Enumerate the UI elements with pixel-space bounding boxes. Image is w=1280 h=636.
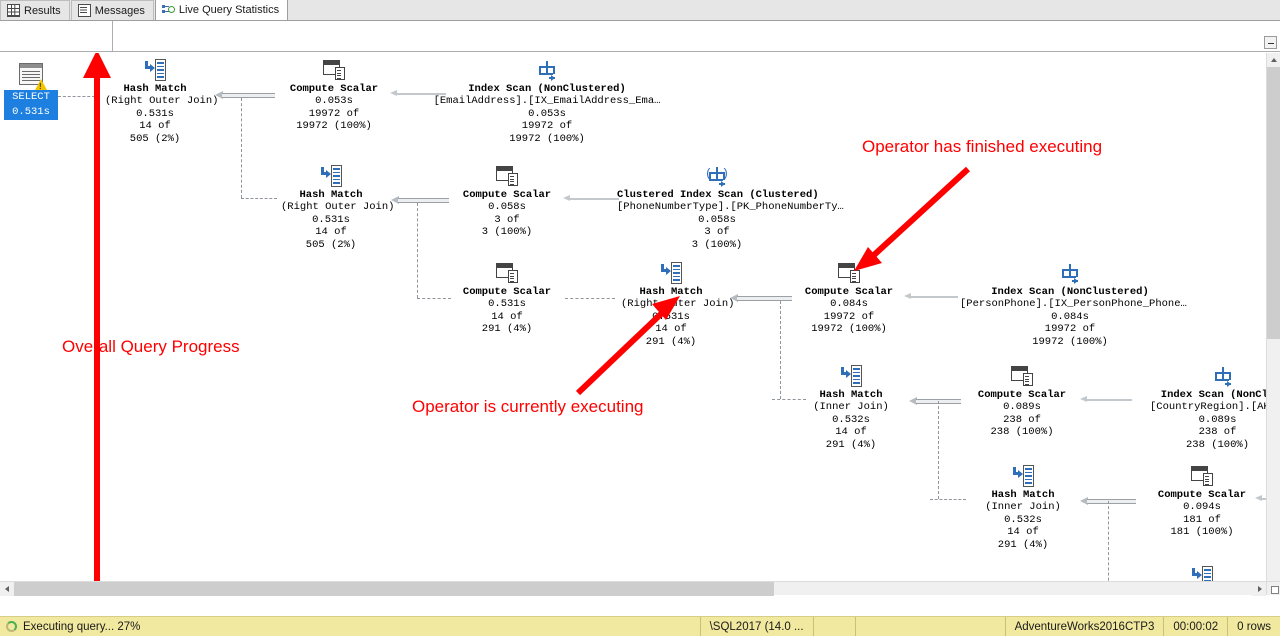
connector-dashed-cs3-hash2	[417, 298, 451, 299]
operator-select-root[interactable]: SELECT 0.531s	[4, 63, 58, 120]
canvas-vertical-scrollbar[interactable]	[1266, 53, 1280, 595]
operator-compute-scalar-3[interactable]: Compute Scalar 0.531s 14 of 291 (4%)	[457, 261, 557, 336]
operator-rows: 238 of	[1150, 426, 1266, 438]
operator-rows: 3 of	[617, 226, 817, 238]
connector-arrow-cidx1-cs2	[563, 197, 619, 200]
operator-time: 0.532s	[983, 514, 1063, 526]
operator-name: Compute Scalar	[972, 389, 1072, 401]
index-scan-icon	[960, 261, 1180, 285]
operator-name: Hash Match	[621, 286, 721, 298]
horizontal-scroll-thumb[interactable]	[14, 582, 774, 596]
operator-rows: 19972 of	[412, 120, 682, 132]
operator-total: 3 (100%)	[617, 239, 817, 251]
operator-time: 0.084s	[960, 311, 1180, 323]
operator-hash-match-2[interactable]: Hash Match (Right Outer Join) 0.531s 14 …	[281, 164, 381, 251]
operator-name: Compute Scalar	[1152, 489, 1252, 501]
operator-total: 291 (4%)	[457, 323, 557, 335]
operator-rows: 19972 of	[799, 311, 899, 323]
tab-messages[interactable]: Messages	[71, 0, 154, 20]
operator-subtitle: [CountryRegion].[AK_Cou	[1150, 401, 1266, 413]
operator-name: Compute Scalar	[457, 286, 557, 298]
operator-subtitle: [PersonPhone].[IX_PersonPhone_Phone…	[960, 298, 1180, 310]
query-cost-and-sql: Query 1: Query cost (relative to the bat…	[114, 21, 1280, 51]
operator-subtitle: [PhoneNumberType].[PK_PhoneNumberTy…	[617, 201, 817, 213]
connector-arrow-cs2-hash2	[391, 196, 449, 205]
progress-spinner-icon	[6, 621, 17, 632]
operator-rows: 14 of	[281, 226, 381, 238]
tab-results-label: Results	[24, 5, 61, 17]
connector-dashed-vertical-2	[417, 203, 418, 298]
operator-subtitle: [EmailAddress].[IX_EmailAddress_Ema…	[412, 95, 682, 107]
annotation-operator-finished: Operator has finished executing	[862, 137, 1102, 157]
compute-scalar-icon	[284, 58, 384, 82]
operator-time: 0.094s	[1152, 501, 1252, 513]
operator-time: 0.053s	[284, 95, 384, 107]
query-cost-line: Query 1: Query cost (relative to the bat…	[118, 51, 1280, 52]
operator-compute-scalar-6[interactable]: Compute Scalar 0.094s 181 of 181 (100%)	[1152, 464, 1252, 539]
scroll-right-button[interactable]	[1252, 582, 1266, 596]
operator-clustered-index-scan-phonenumbertype[interactable]: () Clustered Index Scan (Clustered) [Pho…	[617, 164, 817, 251]
operator-time: 0.058s	[617, 214, 817, 226]
annotation-overall-query-progress: Overall Query Progress	[62, 337, 240, 357]
operator-name: Index Scan (NonClustered)	[412, 83, 682, 95]
operator-name: Compute Scalar	[284, 83, 384, 95]
scroll-left-button[interactable]	[0, 582, 14, 596]
live-query-statistics-icon	[162, 4, 175, 17]
operator-rows: 3 of	[457, 214, 557, 226]
hash-match-icon	[105, 58, 205, 82]
vertical-scroll-thumb[interactable]	[1267, 67, 1280, 339]
connector-arrow-cs1-hash1	[215, 91, 275, 100]
status-executing-group: Executing query... 27%	[0, 621, 700, 633]
scroll-up-button[interactable]	[1267, 53, 1280, 67]
operator-time: 0.053s	[412, 108, 682, 120]
connector-dashed-hash3-cs3	[565, 298, 615, 299]
operator-total: 19972 (100%)	[412, 133, 682, 145]
status-bar: Executing query... 27% \SQL2017 (14.0 ..…	[0, 616, 1280, 636]
operator-total: 291 (4%)	[983, 539, 1063, 551]
operator-time: 0.531s	[105, 108, 205, 120]
compute-scalar-icon	[799, 261, 899, 285]
operator-subtitle: (Right Outer Join)	[281, 201, 381, 213]
operator-index-scan-personphone[interactable]: Index Scan (NonClustered) [PersonPhone].…	[960, 261, 1180, 348]
operator-time: 0.084s	[799, 298, 899, 310]
select-root-cost: 0.531s	[4, 105, 58, 120]
connector-dashed-hash4-hash3	[772, 399, 806, 400]
status-server: \SQL2017 (14.0 ...	[700, 617, 813, 636]
connector-dashed-hash1-select	[58, 96, 100, 97]
connector-arrow-idx3-cs5	[1080, 398, 1132, 401]
operator-name: Hash Match	[281, 189, 381, 201]
operator-total: 19972 (100%)	[799, 323, 899, 335]
operator-rows: 19972 of	[960, 323, 1180, 335]
estimated-query-progress: Estimated query progress:27%	[0, 21, 113, 51]
connector-arrow-idx2-cs4	[904, 295, 958, 298]
status-blank-spacer	[855, 617, 1005, 636]
hash-match-icon	[281, 164, 381, 188]
index-scan-icon	[412, 58, 682, 82]
annotation-operator-executing: Operator is currently executing	[412, 397, 644, 417]
operator-time: 0.531s	[621, 311, 721, 323]
operator-rows: 14 of	[983, 526, 1063, 538]
operator-subtitle: (Right Outer Join)	[621, 298, 721, 310]
connector-dashed-vertical-3	[780, 301, 781, 399]
estimated-query-progress-line1: Estimated query	[0, 51, 112, 52]
operator-compute-scalar-2[interactable]: Compute Scalar 0.058s 3 of 3 (100%)	[457, 164, 557, 239]
connector-dashed-hash2-hash1	[241, 198, 277, 199]
tab-live-query-statistics-label: Live Query Statistics	[179, 4, 279, 16]
operator-rows: 14 of	[621, 323, 721, 335]
operator-index-scan-emailaddress[interactable]: Index Scan (NonClustered) [EmailAddress]…	[412, 58, 682, 145]
operator-total: 238 (100%)	[1150, 439, 1266, 451]
operator-total: 505 (2%)	[281, 239, 381, 251]
operator-name: Clustered Index Scan (Clustered)	[617, 189, 817, 201]
select-result-icon	[16, 63, 46, 89]
operator-index-scan-countryregion[interactable]: Index Scan (NonClu [CountryRegion].[AK_C…	[1150, 364, 1266, 451]
operator-rows: 14 of	[457, 311, 557, 323]
tab-results[interactable]: Results	[0, 0, 70, 20]
connector-dashed-hash5-hash4	[930, 499, 966, 500]
operator-total: 3 (100%)	[457, 226, 557, 238]
operator-total: 505 (2%)	[105, 133, 205, 145]
scrollbar-corner-box[interactable]	[1266, 581, 1280, 595]
operator-name: Compute Scalar	[457, 189, 557, 201]
operator-hash-match-5[interactable]: Hash Match (Inner Join) 0.532s 14 of 291…	[983, 464, 1063, 551]
status-user-spacer	[813, 617, 855, 636]
connector-arrow-cs5-hash4	[909, 397, 961, 406]
operator-rows: 14 of	[105, 120, 205, 132]
query-plan-header: Estimated query progress:27% Query 1: Qu…	[0, 21, 1280, 52]
operator-time: 0.089s	[1150, 414, 1266, 426]
live-query-statistics-window: Results Messages Live Query Statistics E…	[0, 0, 1280, 636]
operator-total: 291 (4%)	[621, 336, 721, 348]
operator-compute-scalar-4[interactable]: Compute Scalar 0.084s 19972 of 19972 (10…	[799, 261, 899, 336]
operator-time: 0.089s	[972, 401, 1072, 413]
hash-match-icon	[983, 464, 1063, 488]
hash-match-icon	[621, 261, 721, 285]
operator-total: 181 (100%)	[1152, 526, 1252, 538]
compute-scalar-icon	[457, 164, 557, 188]
warning-triangle-icon	[35, 79, 47, 90]
operator-name: Hash Match	[983, 489, 1063, 501]
status-database: AdventureWorks2016CTP3	[1005, 617, 1164, 636]
operator-name: Compute Scalar	[799, 286, 899, 298]
connector-arrow-cs4-hash3	[730, 294, 792, 303]
clustered-index-scan-icon: ()	[617, 164, 817, 188]
operator-hash-match-4[interactable]: Hash Match (Inner Join) 0.532s 14 of 291…	[811, 364, 891, 451]
operator-hash-match-1[interactable]: Hash Match (Right Outer Join) 0.531s 14 …	[105, 58, 205, 145]
operator-time: 0.058s	[457, 201, 557, 213]
tab-messages-label: Messages	[95, 5, 145, 17]
message-icon	[78, 4, 91, 17]
operator-total: 291 (4%)	[811, 439, 891, 451]
operator-compute-scalar-5[interactable]: Compute Scalar 0.089s 238 of 238 (100%)	[972, 364, 1072, 439]
operator-rows: 181 of	[1152, 514, 1252, 526]
operator-subtitle: (Inner Join)	[811, 401, 891, 413]
compute-scalar-icon	[457, 261, 557, 285]
operator-compute-scalar-1[interactable]: Compute Scalar 0.053s 19972 of 19972 (10…	[284, 58, 384, 133]
operator-rows: 19972 of	[284, 108, 384, 120]
status-rows: 0 rows	[1227, 617, 1280, 636]
operator-hash-match-3[interactable]: Hash Match (Right Outer Join) 0.531s 14 …	[621, 261, 721, 348]
hash-match-icon	[811, 364, 891, 388]
connector-arrow-right-clipped	[1255, 497, 1266, 500]
compute-scalar-icon	[972, 364, 1072, 388]
operator-subtitle: (Right Outer Join)	[105, 95, 205, 107]
operator-name: Hash Match	[811, 389, 891, 401]
grid-icon	[7, 4, 20, 17]
operator-total: 19972 (100%)	[284, 120, 384, 132]
status-elapsed: 00:00:02	[1163, 617, 1227, 636]
operator-time: 0.532s	[811, 414, 891, 426]
status-executing-text: Executing query... 27%	[23, 621, 140, 633]
operator-total: 238 (100%)	[972, 426, 1072, 438]
canvas-horizontal-scrollbar[interactable]	[0, 581, 1266, 595]
results-pane-tabstrip: Results Messages Live Query Statistics	[0, 0, 1280, 21]
operator-name: Hash Match	[105, 83, 205, 95]
select-root-label: SELECT	[4, 90, 58, 105]
operator-name: Index Scan (NonClustered)	[960, 286, 1180, 298]
connector-dashed-vertical-4	[938, 401, 939, 499]
tab-live-query-statistics[interactable]: Live Query Statistics	[155, 0, 288, 20]
execution-plan-canvas[interactable]: SELECT 0.531s Hash Match (Right Outer Jo…	[0, 53, 1266, 595]
operator-rows: 14 of	[811, 426, 891, 438]
index-scan-icon	[1150, 364, 1266, 388]
operator-name: Index Scan (NonClu	[1150, 389, 1266, 401]
operator-rows: 238 of	[972, 414, 1072, 426]
red-arrow-to-finished-operator	[848, 163, 978, 273]
operator-total: 19972 (100%)	[960, 336, 1180, 348]
operator-time: 0.531s	[457, 298, 557, 310]
expand-query-text-button[interactable]	[1264, 36, 1277, 49]
compute-scalar-icon	[1152, 464, 1252, 488]
operator-time: 0.531s	[281, 214, 381, 226]
connector-dashed-vertical-1	[241, 98, 242, 198]
operator-subtitle: (Inner Join)	[983, 501, 1063, 513]
